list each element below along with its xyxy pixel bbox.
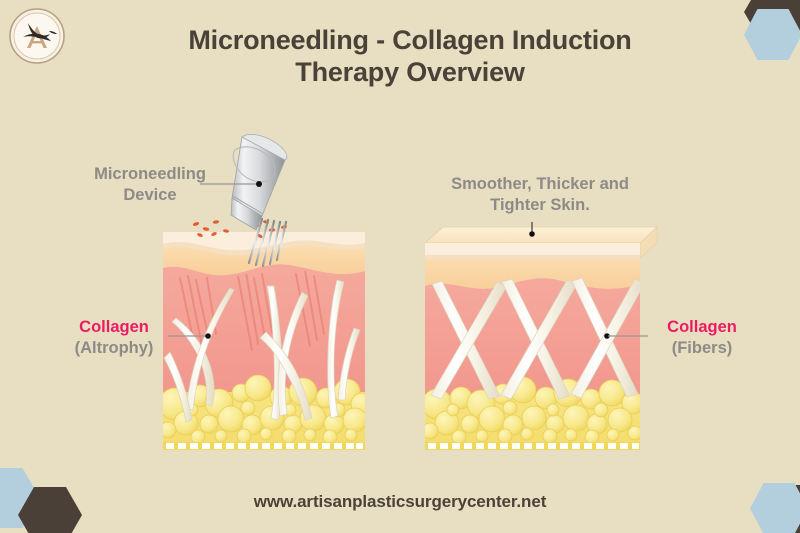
skin-diagram-illustration [0,0,800,533]
right-top-surface [425,227,657,243]
label-collagen-fibers-subtitle: (Fibers) [650,338,754,359]
label-result-line1: Smoother, Thicker and [425,174,655,195]
label-result-skin: Smoother, Thicker and Tighter Skin. [425,174,655,215]
right-top-leader-dot [529,231,535,237]
device-leader-dot [256,181,262,187]
footer-website-url[interactable]: www.artisanplasticsurgerycenter.net [0,492,800,512]
label-device-line1: Microneedling [60,164,240,185]
label-microneedling-device: Microneedling Device [60,164,240,205]
infographic-canvas: Microneedling - Collagen Induction Thera… [0,0,800,533]
right-panel-healed-skin [422,222,657,450]
label-result-line2: Tighter Skin. [425,195,655,216]
right-surface-line [425,255,640,259]
left-leader-dot [205,333,211,339]
label-collagen-atrophy: Collagen (Altrophy) [62,317,166,358]
label-collagen-atrophy-subtitle: (Altrophy) [62,338,166,359]
label-collagen-fibers: Collagen (Fibers) [650,317,754,358]
label-collagen-atrophy-title: Collagen [62,317,166,338]
right-stratum-corneum [425,243,640,255]
label-device-line2: Device [60,185,240,206]
label-collagen-fibers-title: Collagen [650,317,754,338]
